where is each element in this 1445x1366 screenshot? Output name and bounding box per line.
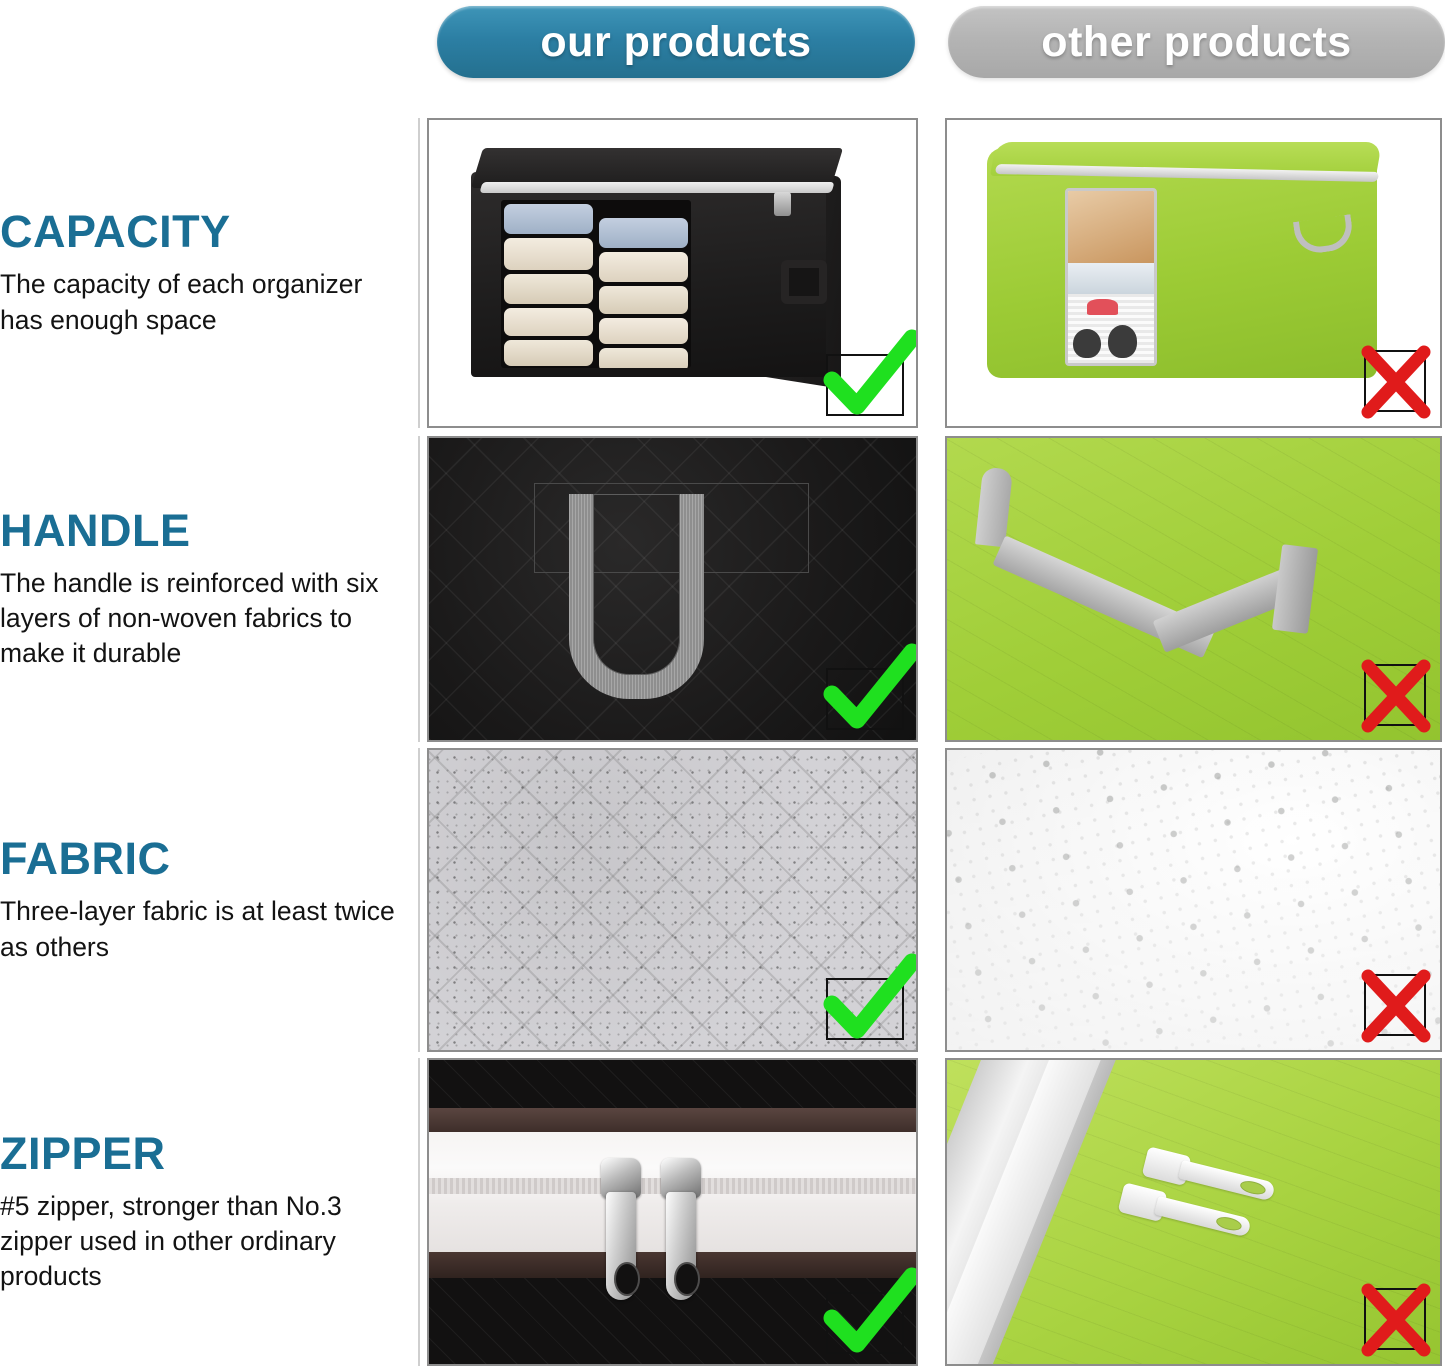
check-icon [812, 328, 918, 424]
check-badge [826, 354, 904, 416]
zipper-piping-top [429, 1108, 916, 1132]
cross-icon [1356, 342, 1436, 422]
torn-strap-anchor [1272, 544, 1318, 634]
organizer-side-handle [781, 260, 827, 304]
organizer-zipper-pull [774, 192, 791, 216]
sweater-stack-left [501, 200, 596, 368]
zipper-pull-right [657, 1158, 703, 1308]
organizer-clear-window [501, 200, 691, 368]
other-products-label: other products [1041, 18, 1351, 67]
column-divider [418, 436, 420, 742]
feature-description: The capacity of each organizer has enoug… [0, 267, 398, 337]
other-products-badge: other products [948, 6, 1445, 78]
feature-row-fabric: FABRIC Three-layer fabric is at least tw… [0, 748, 1445, 1052]
photo-ours-fabric [427, 748, 918, 1052]
feature-row-capacity: CAPACITY The capacity of each organizer … [0, 118, 1445, 428]
check-badge [826, 668, 904, 730]
cross-icon [1356, 966, 1436, 1046]
woven-handle-strap [569, 494, 704, 699]
check-badge [826, 1292, 904, 1354]
photo-others-capacity [945, 118, 1442, 428]
sweater-stack-right [596, 200, 691, 368]
photo-others-fabric [945, 748, 1442, 1052]
photo-ours-handle [427, 436, 918, 742]
cross-badge [1364, 664, 1426, 726]
photo-others-handle [945, 436, 1442, 742]
our-products-badge: our products [437, 6, 915, 78]
feature-title: FABRIC [0, 835, 398, 882]
cross-badge [1364, 974, 1426, 1036]
check-icon [812, 952, 918, 1048]
cross-icon [1356, 1280, 1436, 1360]
check-icon [812, 642, 918, 738]
feature-row-zipper: ZIPPER #5 zipper, stronger than No.3 zip… [0, 1058, 1445, 1366]
cross-icon [1356, 656, 1436, 736]
cross-badge [1364, 350, 1426, 412]
column-divider [418, 748, 420, 1052]
feature-title: HANDLE [0, 507, 398, 554]
photo-ours-capacity [427, 118, 918, 428]
feature-text-fabric: FABRIC Three-layer fabric is at least tw… [0, 748, 420, 1052]
our-products-label: our products [540, 18, 811, 67]
photo-others-zipper [945, 1058, 1442, 1366]
check-icon [812, 1266, 918, 1362]
cross-badge [1364, 1288, 1426, 1350]
feature-description: The handle is reinforced with six layers… [0, 566, 398, 672]
zipper-pull-left [597, 1158, 643, 1308]
feature-title: CAPACITY [0, 208, 398, 255]
feature-title: ZIPPER [0, 1130, 398, 1177]
feature-text-capacity: CAPACITY The capacity of each organizer … [0, 118, 420, 428]
feature-description: Three-layer fabric is at least twice as … [0, 894, 398, 964]
photo-ours-zipper [427, 1058, 918, 1366]
column-divider [418, 118, 420, 428]
comparison-infographic: our products other products CAPACITY The… [0, 0, 1445, 1366]
green-bag-window [1065, 188, 1157, 366]
header-row: our products other products [0, 0, 1445, 88]
green-bag-body [987, 148, 1377, 378]
zipper-fabric-top [429, 1060, 916, 1108]
check-badge [826, 978, 904, 1040]
feature-text-handle: HANDLE The handle is reinforced with six… [0, 436, 420, 742]
column-divider [418, 1058, 420, 1366]
feature-text-zipper: ZIPPER #5 zipper, stronger than No.3 zip… [0, 1058, 420, 1366]
feature-description: #5 zipper, stronger than No.3 zipper use… [0, 1189, 398, 1295]
feature-row-handle: HANDLE The handle is reinforced with six… [0, 436, 1445, 742]
